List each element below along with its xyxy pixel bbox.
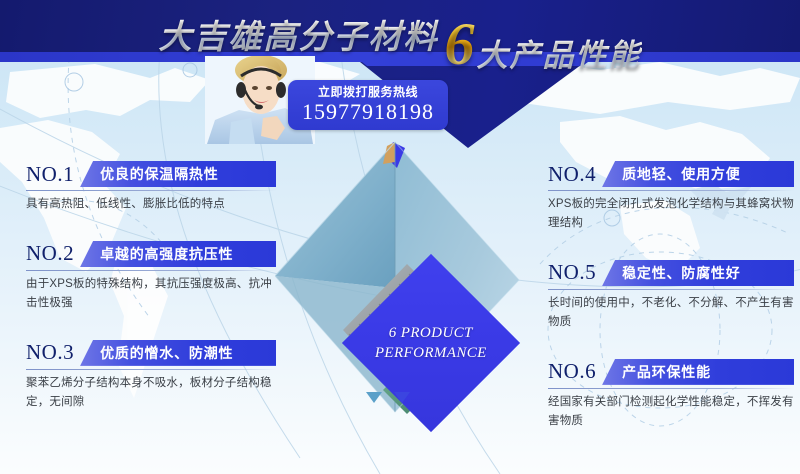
core-diamond-text: 6 PRODUCT PERFORMANCE <box>375 323 487 364</box>
core-line-2: PERFORMANCE <box>375 343 487 363</box>
feature-description-2: 由于XPS板的特殊结构，其抗压强度极高、抗冲击性极强 <box>26 275 276 313</box>
feature-description-3: 聚苯乙烯分子结构本身不吸水，板材分子结构稳定，无间隙 <box>26 374 276 412</box>
hotline-phone-number: 15977918198 <box>302 99 434 124</box>
feature-divider-6 <box>548 388 794 389</box>
feature-header-5: NO.5 稳定性、防腐性好 <box>548 259 794 287</box>
arrow-down-icon-teal <box>366 392 382 403</box>
feature-header-1: NO.1 优良的保温隔热性 <box>26 160 276 188</box>
feature-number-3: NO.3 <box>26 340 80 365</box>
feature-number-5: NO.5 <box>548 260 602 285</box>
feature-number-6: NO.6 <box>548 359 602 384</box>
feature-title-text-3: 优质的憎水、防潮性 <box>100 343 233 363</box>
feature-header-6: NO.6 产品环保性能 <box>548 358 794 386</box>
feature-divider-1 <box>26 190 276 191</box>
feature-list-right: NO.4 质地轻、使用方便 XPS板的完全闭孔式发泡化学结构与其蜂窝状物理结构 … <box>548 160 794 457</box>
feature-title-text-2: 卓越的高强度抗压性 <box>100 244 233 264</box>
arrow-down-icon-blue <box>394 392 410 403</box>
feature-divider-5 <box>548 289 794 290</box>
feature-title-text-6: 产品环保性能 <box>622 362 711 382</box>
feature-number-2: NO.2 <box>26 241 80 266</box>
feature-title-banner-5: 稳定性、防腐性好 <box>602 260 794 286</box>
feature-item-1: NO.1 优良的保温隔热性 具有高热阻、低线性、膨胀比低的特点 <box>26 160 276 214</box>
decorative-arrows <box>366 392 410 403</box>
core-line-1: 6 PRODUCT <box>375 323 487 343</box>
center-diamond-collage: 6 PRODUCT PERFORMANCE <box>275 128 530 420</box>
feature-divider-4 <box>548 190 794 191</box>
feature-number-1: NO.1 <box>26 162 80 187</box>
feature-description-6: 经国家有关部门检测起化学性能稳定，不挥发有害物质 <box>548 393 794 431</box>
feature-title-banner-6: 产品环保性能 <box>602 359 794 385</box>
feature-title-text-1: 优良的保温隔热性 <box>100 164 218 184</box>
feature-header-4: NO.4 质地轻、使用方便 <box>548 160 794 188</box>
feature-description-1: 具有高热阻、低线性、膨胀比低的特点 <box>26 195 276 214</box>
feature-title-banner-1: 优良的保温隔热性 <box>80 161 276 187</box>
feature-divider-2 <box>26 270 276 271</box>
feature-description-4: XPS板的完全闭孔式发泡化学结构与其蜂窝状物理结构 <box>548 195 794 233</box>
feature-item-3: NO.3 优质的憎水、防潮性 聚苯乙烯分子结构本身不吸水，板材分子结构稳定，无间… <box>26 339 276 412</box>
feature-title-banner-3: 优质的憎水、防潮性 <box>80 340 276 366</box>
feature-item-2: NO.2 卓越的高强度抗压性 由于XPS板的特殊结构，其抗压强度极高、抗冲击性极… <box>26 240 276 313</box>
feature-item-4: NO.4 质地轻、使用方便 XPS板的完全闭孔式发泡化学结构与其蜂窝状物理结构 <box>548 160 794 233</box>
hotline-callout[interactable]: 立即拨打服务热线 15977918198 <box>288 80 448 130</box>
feature-item-5: NO.5 稳定性、防腐性好 长时间的使用中，不老化、不分解、不产生有害物质 <box>548 259 794 332</box>
feature-divider-3 <box>26 369 276 370</box>
feature-header-3: NO.3 优质的憎水、防潮性 <box>26 339 276 367</box>
feature-header-2: NO.2 卓越的高强度抗压性 <box>26 240 276 268</box>
hotline-label: 立即拨打服务热线 <box>318 86 418 99</box>
feature-number-4: NO.4 <box>548 162 602 187</box>
feature-list-left: NO.1 优良的保温隔热性 具有高热阻、低线性、膨胀比低的特点 NO.2 卓越的… <box>26 160 276 438</box>
feature-title-banner-4: 质地轻、使用方便 <box>602 161 794 187</box>
promo-banner: 大吉雄高分子材料 6 大产品性能 <box>0 0 800 474</box>
feature-title-text-4: 质地轻、使用方便 <box>622 164 740 184</box>
feature-title-banner-2: 卓越的高强度抗压性 <box>80 241 276 267</box>
feature-description-5: 长时间的使用中，不老化、不分解、不产生有害物质 <box>548 294 794 332</box>
feature-title-text-5: 稳定性、防腐性好 <box>622 263 740 283</box>
feature-item-6: NO.6 产品环保性能 经国家有关部门检测起化学性能稳定，不挥发有害物质 <box>548 358 794 431</box>
